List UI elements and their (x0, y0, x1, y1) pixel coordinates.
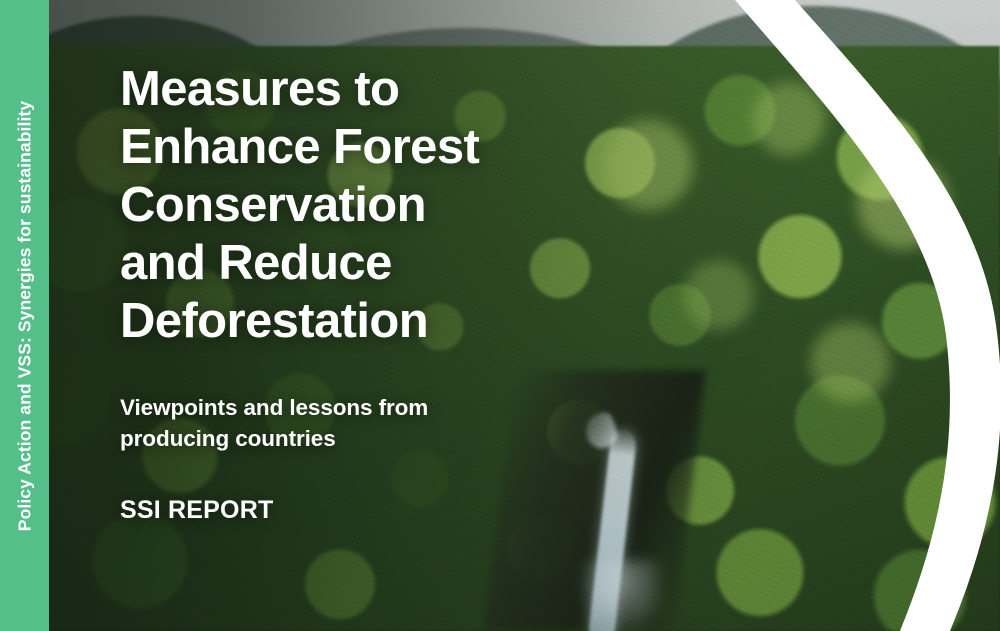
cover-text-block: Measures to Enhance Forest Conservation … (120, 0, 680, 631)
title-line-2: Enhance Forest (120, 118, 479, 176)
subtitle-line-1: Viewpoints and lessons from (120, 392, 520, 423)
title-line-5: Deforestation (120, 292, 479, 350)
title-line-4: and Reduce (120, 234, 479, 292)
report-kicker: SSI REPORT (120, 496, 273, 525)
title-line-1: Measures to (120, 60, 479, 118)
green-vertical-band: Policy Action and VSS: Synergies for sus… (0, 0, 49, 631)
report-cover: Policy Action and VSS: Synergies for sus… (0, 0, 1000, 631)
page-title: Measures to Enhance Forest Conservation … (120, 60, 479, 350)
series-label: Policy Action and VSS: Synergies for sus… (14, 100, 35, 530)
subtitle-line-2: producing countries (120, 423, 520, 454)
title-line-3: Conservation (120, 176, 479, 234)
page-subtitle: Viewpoints and lessons from producing co… (120, 392, 520, 454)
